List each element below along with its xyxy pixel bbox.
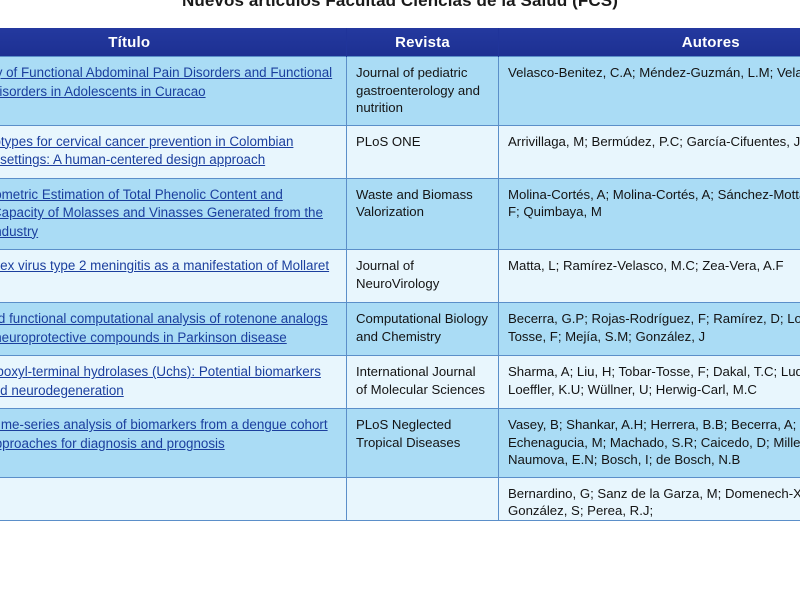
cell-titulo: Ubiquitin carboxyl-terminal hydrolases (… — [0, 356, 347, 409]
page-root: Nuevos artículos Facultad Ciencias de la… — [0, 0, 800, 600]
cell-autores: Bernardino, G; Sanz de la Garza, M; Dome… — [499, 477, 800, 520]
article-title-link[interactable]: Ubiquitin carboxyl-terminal hydrolases (… — [0, 364, 321, 398]
cell-titulo: Epidemiology of Functional Abdominal Pai… — [0, 57, 347, 126]
cell-revista: International Journal of Molecular Scien… — [347, 356, 499, 409]
table-row: Ubiquitin carboxyl-terminal hydrolases (… — [0, 356, 800, 409]
article-title-link[interactable]: Multivariate time-series analysis of bio… — [0, 417, 328, 451]
cell-autores: Molina-Cortés, A; Molina-Cortés, A; Sánc… — [499, 178, 800, 250]
table-header-row: Título Revista Autores — [0, 28, 800, 57]
cell-revista: PLoS ONE — [347, 125, 499, 178]
cell-autores: Velasco-Benitez, C.A; Méndez-Guzmán, L.M… — [499, 57, 800, 126]
column-header-autores[interactable]: Autores — [499, 28, 800, 57]
cell-titulo: Herpes simplex virus type 2 meningitis a… — [0, 250, 347, 303]
article-title-link[interactable]: Epidemiology of Functional Abdominal Pai… — [0, 65, 332, 99]
table-row: Service prototypes for cervical cancer p… — [0, 125, 800, 178]
article-title-link[interactable]: Spectrophotometric Estimation of Total P… — [0, 187, 323, 239]
article-title-link[interactable]: Structural and functional computational … — [0, 311, 328, 345]
cell-revista: PLoS Neglected Tropical Diseases — [347, 409, 499, 478]
table-row: Epidemiology of Functional Abdominal Pai… — [0, 57, 800, 126]
articles-table: Título Revista Autores Epidemiology of F… — [0, 28, 800, 521]
table-body: Epidemiology of Functional Abdominal Pai… — [0, 57, 800, 521]
table-viewport[interactable]: Título Revista Autores Epidemiology of F… — [0, 28, 800, 600]
cell-titulo: Spectrophotometric Estimation of Total P… — [0, 178, 347, 250]
table-row: Spectrophotometric Estimation of Total P… — [0, 178, 800, 250]
cell-titulo: Service prototypes for cervical cancer p… — [0, 125, 347, 178]
cell-titulo: Multivariate time-series analysis of bio… — [0, 409, 347, 478]
cell-titulo — [0, 477, 347, 520]
cell-autores: Vasey, B; Shankar, A.H; Herrera, B.B; Be… — [499, 409, 800, 478]
cell-titulo: Structural and functional computational … — [0, 303, 347, 356]
column-header-titulo[interactable]: Título — [0, 28, 347, 57]
cell-autores: Becerra, G.P; Rojas-Rodríguez, F; Ramíre… — [499, 303, 800, 356]
article-title-link[interactable]: Herpes simplex virus type 2 meningitis a… — [0, 258, 329, 292]
article-title-link[interactable]: Service prototypes for cervical cancer p… — [0, 134, 293, 168]
cell-revista: Waste and Biomass Valorization — [347, 178, 499, 250]
column-header-revista[interactable]: Revista — [347, 28, 499, 57]
cell-revista: Journal of pediatric gastroenterology an… — [347, 57, 499, 126]
table-header: Título Revista Autores — [0, 28, 800, 57]
table-row: Bernardino, G; Sanz de la Garza, M; Dome… — [0, 477, 800, 520]
cell-autores: Arrivillaga, M; Bermúdez, P.C; García-Ci… — [499, 125, 800, 178]
cell-autores: Matta, L; Ramírez-Velasco, M.C; Zea-Vera… — [499, 250, 800, 303]
cell-revista: Journal of NeuroVirology — [347, 250, 499, 303]
page-title: Nuevos artículos Facultad Ciencias de la… — [0, 0, 800, 13]
table-row: Multivariate time-series analysis of bio… — [0, 409, 800, 478]
table-row: Structural and functional computational … — [0, 303, 800, 356]
cell-autores: Sharma, A; Liu, H; Tobar-Tosse, F; Dakal… — [499, 356, 800, 409]
table-row: Herpes simplex virus type 2 meningitis a… — [0, 250, 800, 303]
cell-revista: Computational Biology and Chemistry — [347, 303, 499, 356]
cell-revista — [347, 477, 499, 520]
